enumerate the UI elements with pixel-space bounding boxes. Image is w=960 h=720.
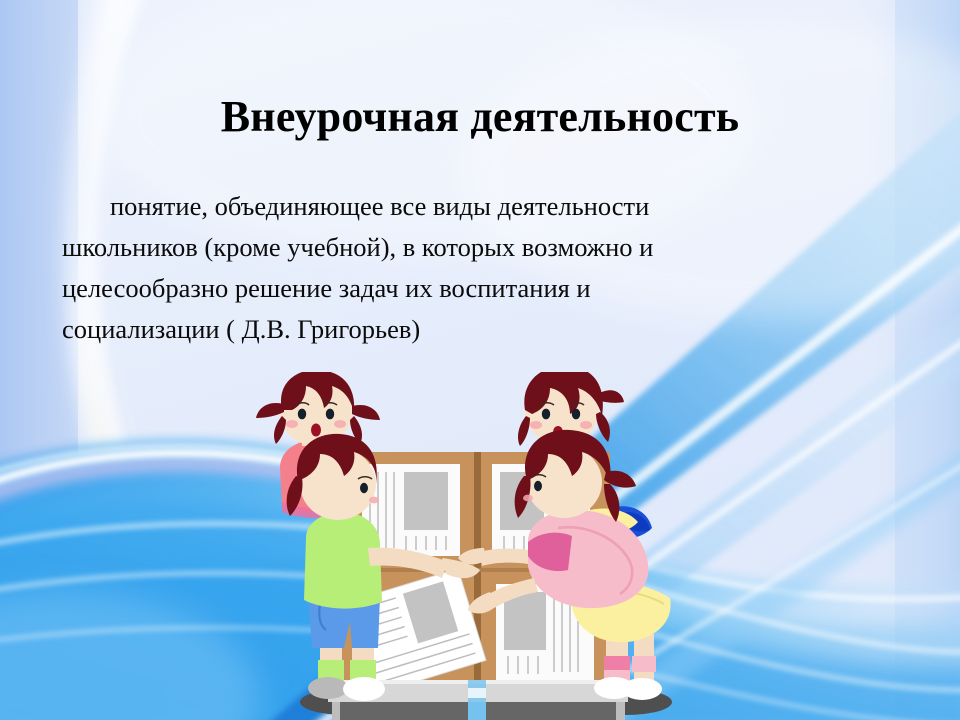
eye	[534, 481, 542, 491]
definition-line-3: целесообразно решение задач их воспитани…	[62, 268, 902, 309]
sock-left	[604, 656, 630, 672]
eye-right	[572, 409, 580, 420]
eye-left	[542, 409, 550, 420]
shoe-right	[622, 678, 662, 700]
mouth	[311, 424, 321, 437]
pigtail-left	[256, 403, 284, 418]
desk-panel-left	[338, 702, 468, 720]
pigtail-right	[352, 405, 380, 420]
paper-image-block	[404, 472, 448, 530]
shoe-left	[308, 677, 348, 699]
page-title: Внеурочная деятельность	[0, 91, 960, 142]
slide-canvas: Внеурочная деятельность понятие, объедин…	[0, 0, 960, 720]
shoe-right	[343, 677, 385, 701]
definition-paragraph: понятие, объединяющее все виды деятельно…	[62, 186, 902, 350]
definition-line-1: понятие, объединяющее все виды деятельно…	[62, 186, 902, 227]
desk-gap	[468, 680, 486, 720]
desk-panel-right	[486, 702, 618, 720]
eye-right	[326, 409, 334, 420]
eye-left	[298, 409, 306, 420]
definition-line-4: социализации ( Д.В. Григорьев)	[62, 309, 902, 350]
children-illustration	[228, 372, 728, 720]
definition-line-2: школьников (кроме учебной), в которых во…	[62, 227, 902, 268]
sock-right	[632, 656, 656, 672]
children-at-desks-artwork	[228, 372, 728, 720]
paper-image-block	[504, 592, 546, 650]
eye	[360, 483, 368, 493]
